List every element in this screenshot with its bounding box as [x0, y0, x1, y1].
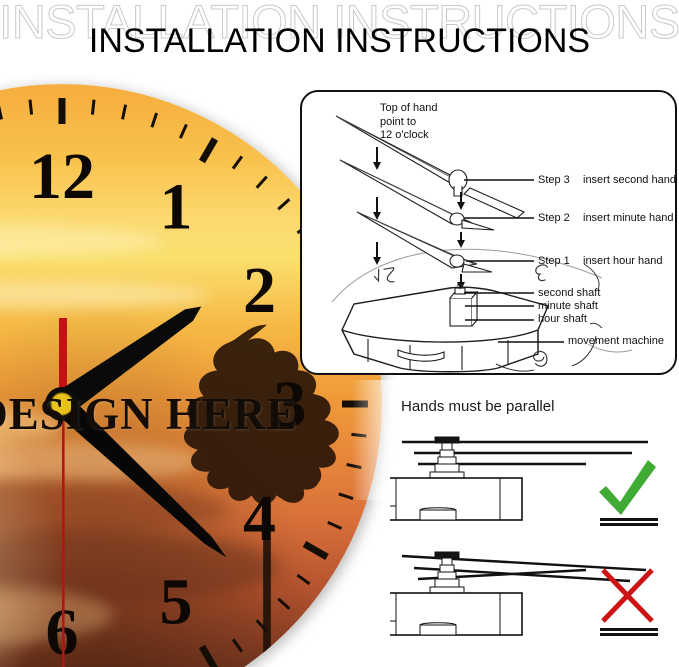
- clock-numeral-5: 5: [160, 565, 193, 638]
- minute-tick: [233, 156, 242, 168]
- clock-numeral-4: 4: [243, 482, 276, 555]
- minute-tick: [278, 599, 289, 609]
- minute-tick: [123, 105, 126, 120]
- step-1-number: Step 1: [538, 255, 583, 267]
- step-2-number: Step 2: [538, 212, 583, 224]
- step-1-label: Step 1insert hour hand: [538, 255, 663, 267]
- minute-tick: [0, 105, 1, 120]
- second-shaft-label: second shaft: [538, 287, 600, 299]
- minute-tick: [257, 620, 267, 631]
- assembly-steps-panel: Top of hand point to 12 o'clock Step 3in…: [300, 90, 677, 375]
- step-2-label: Step 2insert minute hand: [538, 212, 674, 224]
- hands-parallel-panel: Hands must be parallel: [390, 392, 679, 667]
- correct-example: [390, 437, 648, 520]
- minute-tick: [297, 575, 309, 584]
- hands-parallel-diagram: [390, 418, 679, 666]
- step-2-text: insert minute hand: [583, 212, 674, 224]
- installation-instructions-page: INSTALLATION INSTRUCTIONS INSTALLATION I…: [0, 0, 679, 667]
- minute-shaft-label: minute shaft: [538, 300, 598, 312]
- page-title: INSTALLATION INSTRUCTIONS: [30, 22, 650, 61]
- minute-tick: [278, 199, 289, 209]
- minute-tick: [233, 639, 242, 651]
- step-3-number: Step 3: [538, 174, 583, 186]
- hour-tick: [202, 646, 215, 667]
- clock-numeral-2: 2: [243, 254, 276, 327]
- assembly-diagram: [302, 92, 677, 375]
- step-3-text: insert second hand: [583, 174, 676, 186]
- step-3-label: Step 3insert second hand: [538, 174, 676, 186]
- hands-parallel-title: Hands must be parallel: [401, 398, 554, 415]
- clock-design-text: YOUR DESIGN HERE: [0, 388, 382, 440]
- minute-tick: [30, 100, 32, 115]
- minute-tick: [257, 177, 267, 188]
- clock-numeral-12: 12: [29, 140, 95, 213]
- hour-tick: [304, 544, 327, 557]
- top-of-hand-note: Top of hand point to 12 o'clock: [380, 102, 438, 143]
- check-mark-icon: [599, 460, 658, 526]
- minute-tick: [328, 522, 342, 528]
- incorrect-example: [390, 552, 646, 635]
- minute-tick: [152, 113, 157, 127]
- minute-tick: [347, 465, 362, 468]
- minute-tick: [180, 124, 186, 138]
- hour-shaft-label: hour shaft: [538, 313, 587, 325]
- clock-numeral-1: 1: [160, 171, 193, 244]
- minute-tick: [339, 494, 353, 499]
- movement-machine-label: movement machine: [568, 335, 664, 347]
- hour-tick: [202, 139, 215, 162]
- minute-tick: [92, 100, 94, 115]
- step-1-text: insert hour hand: [583, 255, 663, 267]
